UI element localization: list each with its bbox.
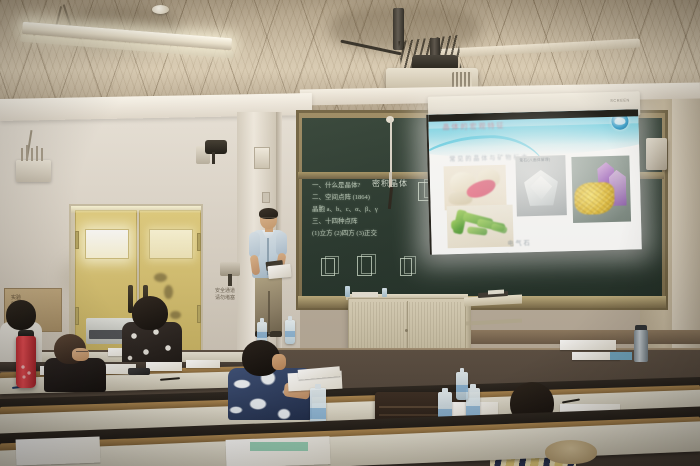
student-face xyxy=(72,348,89,361)
wall-bracket-arm xyxy=(212,152,215,164)
chalk-cube-diagram xyxy=(400,258,412,276)
door-scuff xyxy=(164,285,173,299)
paper-stack xyxy=(146,362,182,371)
door-window xyxy=(149,229,193,259)
student-glasses xyxy=(76,351,88,354)
paper-stack xyxy=(186,360,220,368)
student-left-glasses xyxy=(44,334,106,386)
wall-bracket xyxy=(205,140,227,154)
wall-speaker-icon xyxy=(646,138,667,170)
presentation-slide: 晶体的宏观特征 常见的晶体与矿物标本 萤石(八面体解理) xyxy=(428,109,642,254)
door-hinge xyxy=(75,307,79,325)
paper-stack xyxy=(226,436,331,466)
red-thermos[interactable] xyxy=(16,336,36,388)
projection-screen: 晶体的宏观特征 常见的晶体与矿物标本 萤石(八面体解理) xyxy=(426,109,642,255)
water-bottle[interactable] xyxy=(456,372,468,400)
right-wall-edge xyxy=(672,92,700,392)
straw-hat[interactable] xyxy=(545,440,597,464)
screen-pull-cord[interactable] xyxy=(390,118,392,174)
presenter-handouts xyxy=(267,264,291,279)
light-switch-panel[interactable] xyxy=(254,147,270,169)
water-bottle[interactable] xyxy=(345,286,350,297)
water-bottle[interactable] xyxy=(382,288,387,297)
slide-caption: 电气石 xyxy=(507,238,531,248)
smartphone[interactable] xyxy=(128,368,150,375)
slide-title: 晶体的宏观特征 xyxy=(442,121,505,133)
screen-pull-cord-grip[interactable] xyxy=(389,172,392,188)
door-transom-glow xyxy=(71,206,201,213)
chalk-cube-diagram xyxy=(321,258,335,276)
door-window xyxy=(85,229,129,259)
paper-stack xyxy=(560,340,616,350)
slide-photo-pink-mineral xyxy=(444,165,507,211)
wall-sign: 安全通道 请勿堵塞 xyxy=(214,288,236,304)
door-hinge xyxy=(197,233,201,251)
notebook-cover xyxy=(250,442,308,451)
presenter-shoe xyxy=(269,331,282,337)
smoke-detector-icon xyxy=(152,5,169,14)
student-head xyxy=(132,296,168,330)
door-hinge xyxy=(197,305,201,323)
steel-water-bottle[interactable] xyxy=(634,330,648,362)
slide-photo-green-crystal xyxy=(447,205,514,249)
door-closer-arm xyxy=(228,274,232,286)
presenter-glasses xyxy=(261,217,276,221)
notebook xyxy=(610,352,632,360)
student-floral-black xyxy=(122,300,184,364)
screen-housing-label: SCREEN xyxy=(610,97,630,103)
slide-photo-caption: 萤石(八面体解理) xyxy=(519,158,550,164)
paper-stack xyxy=(16,437,101,466)
student-head xyxy=(6,300,36,330)
slide-photo-amethyst-sulfur xyxy=(571,155,631,222)
student-face xyxy=(272,354,286,370)
podium-shelf-underside xyxy=(466,319,522,326)
cabinet-latch[interactable] xyxy=(405,329,408,332)
slide-photo-octahedral-crystal: 萤石(八面体解理) xyxy=(515,155,567,216)
signal-jammer-box xyxy=(16,160,51,182)
wall-outlet-plate xyxy=(262,192,270,203)
podium-paper xyxy=(352,292,378,297)
chalk-cube-diagram xyxy=(357,256,372,276)
door-hinge xyxy=(75,231,79,249)
lecture-hall-photo: 安全通道 请勿堵塞 密积晶体 一、什么是晶体? 二、空间点阵 (1864) 晶胞… xyxy=(0,0,700,466)
door-scuff xyxy=(154,273,167,282)
presenter xyxy=(246,209,288,337)
